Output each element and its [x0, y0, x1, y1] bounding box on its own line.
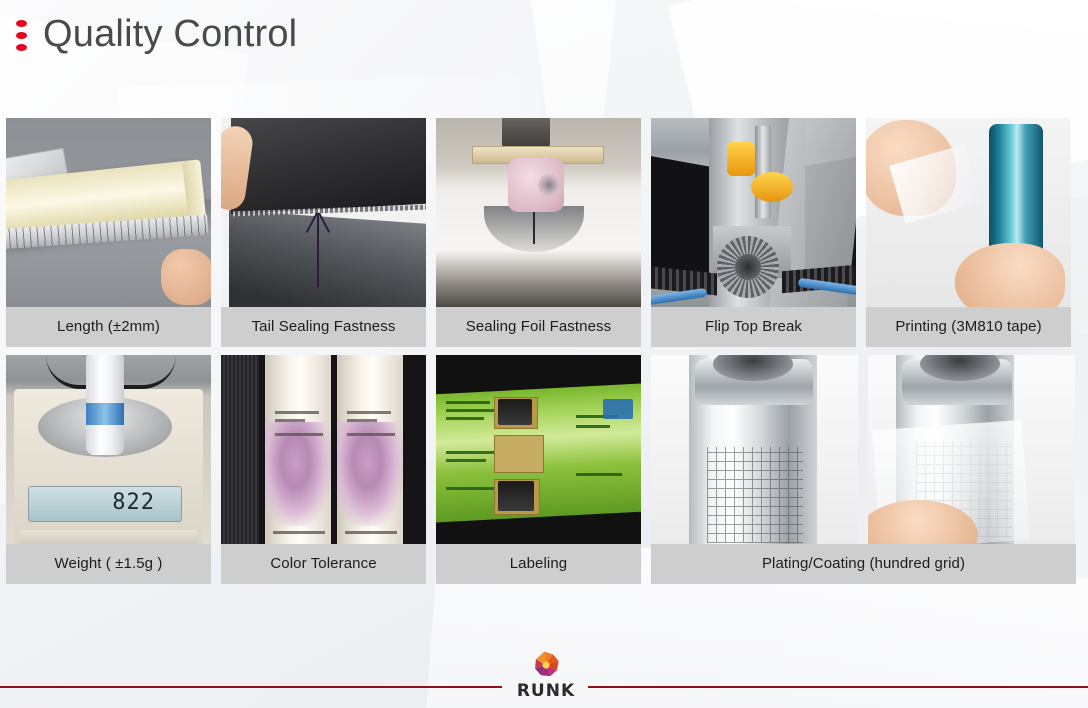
- caption-plating-coating: Plating/Coating (hundred grid): [651, 544, 1076, 584]
- photo-printing: [866, 118, 1071, 307]
- photo-tail-sealing: [221, 118, 426, 307]
- caption-weight: Weight ( ±1.5g ): [6, 544, 211, 584]
- grid-cell-color-tolerance[interactable]: Color Tolerance: [221, 355, 426, 584]
- brand-logo: RUNK: [504, 650, 588, 708]
- grid-cell-weight[interactable]: 822 Weight ( ±1.5g ): [6, 355, 211, 584]
- caption-sealing-foil: Sealing Foil Fastness: [436, 307, 641, 347]
- slide-canvas: Quality Control Length (±2mm): [0, 0, 1088, 708]
- photo-sealing-foil: [436, 118, 641, 307]
- page-title: Quality Control: [43, 15, 297, 53]
- caption-flip-top-break: Flip Top Break: [651, 307, 856, 347]
- grid-row: 822 Weight ( ±1.5g ): [6, 355, 1082, 584]
- caption-tail-sealing: Tail Sealing Fastness: [221, 307, 426, 347]
- brand-logo-text: RUNK: [517, 683, 575, 700]
- quality-control-grid: Length (±2mm) Tail Sealing Fastness: [6, 118, 1082, 592]
- photo-labeling: [436, 355, 641, 544]
- title-bar: Quality Control: [8, 6, 297, 62]
- scale-reading: 822: [112, 490, 155, 515]
- caption-color-tolerance: Color Tolerance: [221, 544, 426, 584]
- photo-flip-top-break: [651, 118, 856, 307]
- photo-plating-tape-pull: [868, 355, 1075, 544]
- grid-cell-flip-top-break[interactable]: Flip Top Break: [651, 118, 856, 347]
- photo-color-tolerance: [221, 355, 426, 544]
- grid-cell-labeling[interactable]: Labeling: [436, 355, 641, 584]
- photo-weight: 822: [6, 355, 211, 544]
- caption-printing: Printing (3M810 tape): [866, 307, 1071, 347]
- photo-length: [6, 118, 211, 307]
- caption-length: Length (±2mm): [6, 307, 211, 347]
- grid-cell-tail-sealing[interactable]: Tail Sealing Fastness: [221, 118, 426, 347]
- grid-row: Length (±2mm) Tail Sealing Fastness: [6, 118, 1082, 347]
- bullet-dots-icon: [16, 20, 27, 51]
- caption-labeling: Labeling: [436, 544, 641, 584]
- photo-plating-grid: [651, 355, 858, 544]
- footer-rule-left: [0, 686, 502, 688]
- grid-cell-printing[interactable]: Printing (3M810 tape): [866, 118, 1071, 347]
- grid-cell-plating-coating[interactable]: Plating/Coating (hundred grid): [651, 355, 1076, 584]
- footer-rule-right: [588, 686, 1088, 688]
- grid-cell-length[interactable]: Length (±2mm): [6, 118, 211, 347]
- pinwheel-logo-icon: [529, 650, 563, 682]
- grid-cell-sealing-foil[interactable]: Sealing Foil Fastness: [436, 118, 641, 347]
